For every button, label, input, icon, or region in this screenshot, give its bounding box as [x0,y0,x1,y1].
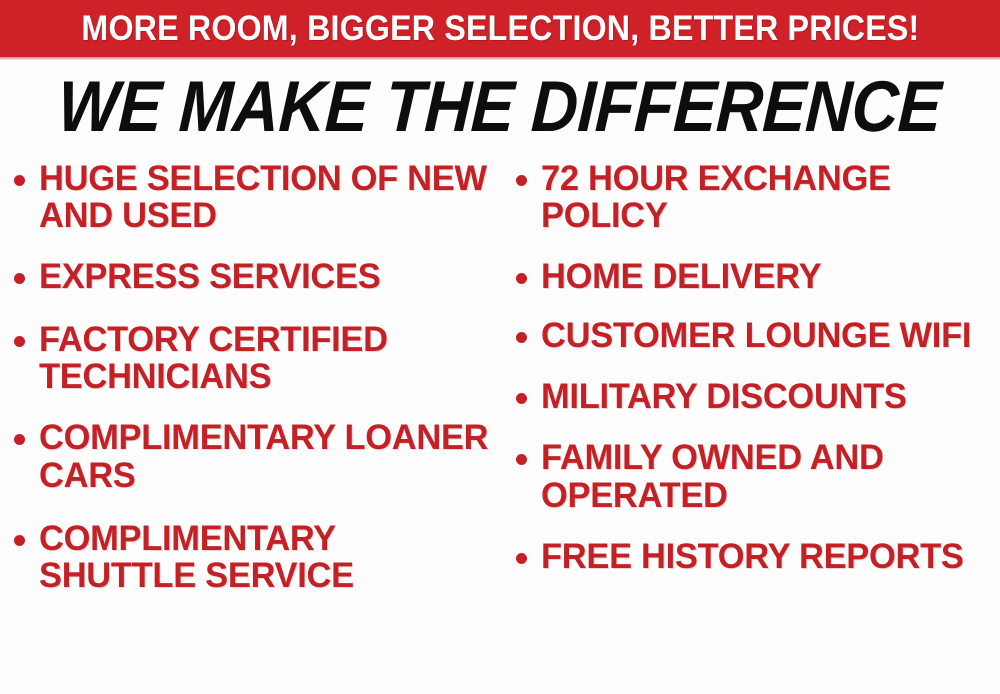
list-item-label: COMPLIMENTARY LOANER CARS [39,419,499,493]
page-title: WE MAKE THE DIFFERENCE [57,71,943,143]
list-item: CUSTOMER LOUNGE WIFI [516,317,1000,354]
benefits-column-right: 72 HOUR EXCHANGE POLICY HOME DELIVERY CU… [516,160,1000,694]
list-item: FACTORY CERTIFIED TECHNICIANS [14,321,506,395]
list-item-label: 72 HOUR EXCHANGE POLICY [541,160,993,234]
bullet-dot-icon [516,175,527,186]
list-item: HOME DELIVERY [516,258,1000,295]
benefits-columns: HUGE SELECTION OF NEW AND USED EXPRESS S… [0,160,1000,694]
list-item: HUGE SELECTION OF NEW AND USED [14,160,506,234]
list-item: FAMILY OWNED AND OPERATED [516,439,1000,513]
list-item-label: MILITARY DISCOUNTS [541,378,993,415]
list-item: COMPLIMENTARY LOANER CARS [14,419,506,493]
bullet-dot-icon [516,273,527,284]
list-item-label: COMPLIMENTARY SHUTTLE SERVICE [39,520,499,594]
bullet-dot-icon [516,332,527,343]
list-item-label: FAMILY OWNED AND OPERATED [541,439,993,513]
promotional-poster: MORE ROOM, BIGGER SELECTION, BETTER PRIC… [0,0,1000,694]
bullet-dot-icon [14,273,25,284]
list-item: COMPLIMENTARY SHUTTLE SERVICE [14,520,506,594]
list-item-label: HUGE SELECTION OF NEW AND USED [39,160,499,234]
benefits-column-left: HUGE SELECTION OF NEW AND USED EXPRESS S… [14,160,506,694]
list-item: MILITARY DISCOUNTS [516,378,1000,415]
list-item-label: EXPRESS SERVICES [39,258,499,295]
list-item: 72 HOUR EXCHANGE POLICY [516,160,1000,234]
banner-divider [0,57,1000,60]
bullet-dot-icon [516,393,527,404]
list-item: FREE HISTORY REPORTS [516,538,1000,575]
bullet-dot-icon [14,175,25,186]
bullet-dot-icon [516,553,527,564]
list-item-label: FREE HISTORY REPORTS [541,538,993,575]
list-item-label: CUSTOMER LOUNGE WIFI [541,317,993,354]
top-banner: MORE ROOM, BIGGER SELECTION, BETTER PRIC… [0,0,1000,57]
headline-container: WE MAKE THE DIFFERENCE [0,66,1000,148]
bullet-dot-icon [516,454,527,465]
banner-headline: MORE ROOM, BIGGER SELECTION, BETTER PRIC… [81,11,919,46]
bullet-dot-icon [14,535,25,546]
list-item: EXPRESS SERVICES [14,258,506,295]
list-item-label: FACTORY CERTIFIED TECHNICIANS [39,321,499,395]
bullet-dot-icon [14,336,25,347]
bullet-dot-icon [14,434,25,445]
list-item-label: HOME DELIVERY [541,258,993,295]
